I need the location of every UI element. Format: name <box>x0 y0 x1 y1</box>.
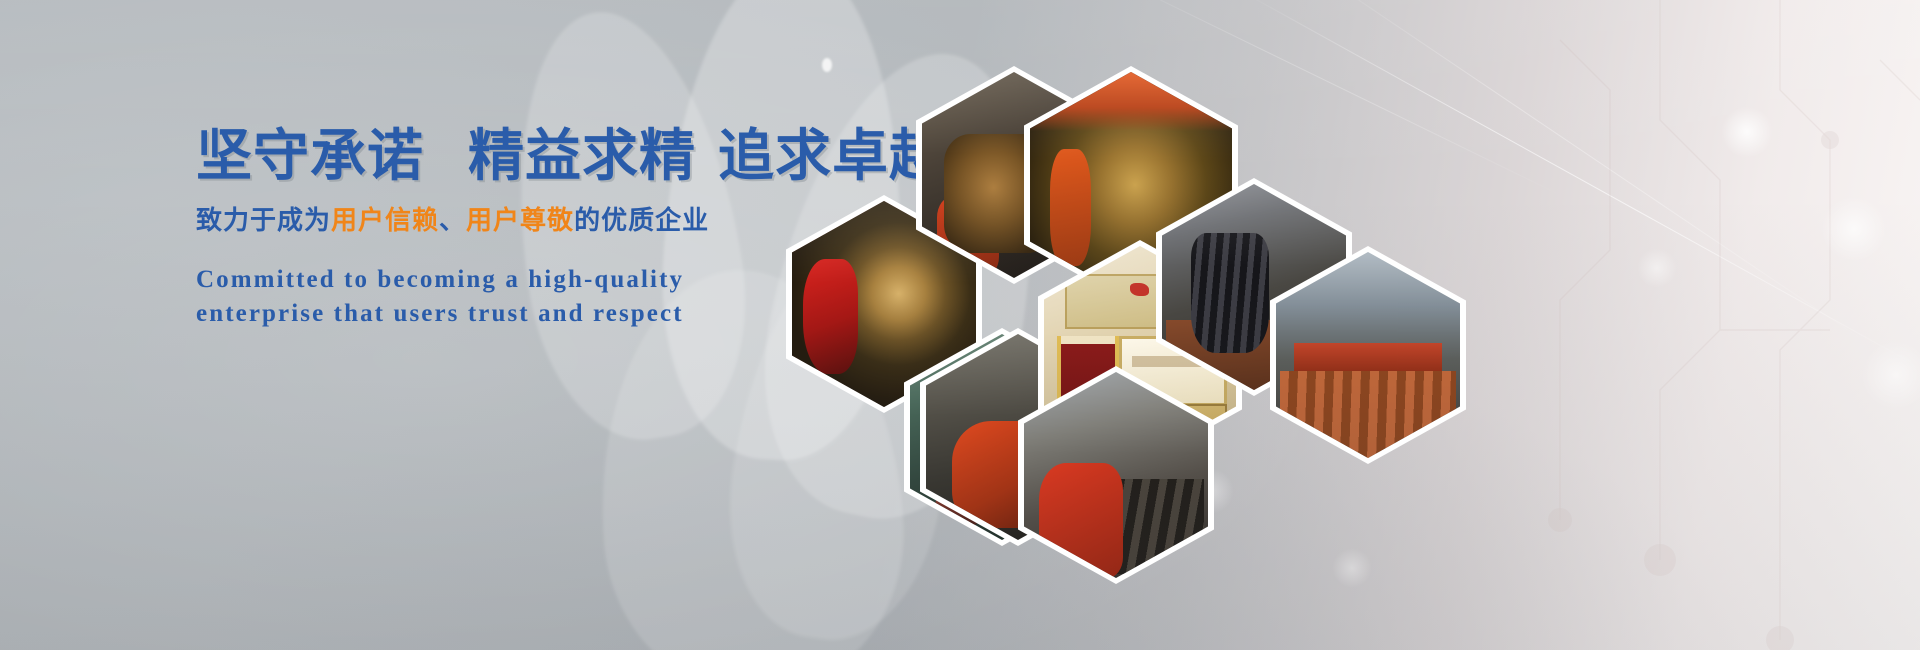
subline-suffix: 的优质企业 <box>574 205 709 235</box>
photo-shade-overlay <box>1024 372 1208 578</box>
headline-segment-2: 精益求精 <box>468 124 696 187</box>
photo-shade-overlay <box>1276 252 1460 458</box>
subline-highlight-respect: 用户尊敬 <box>466 205 574 235</box>
hex-photo-frame <box>1276 252 1460 458</box>
subline-prefix: 致力于成为 <box>196 205 331 235</box>
hex-photo-frame <box>1024 372 1208 578</box>
company-hero-banner: 坚守承诺精益求精追求卓越 致力于成为用户信赖、用户尊敬的优质企业 Committ… <box>0 0 1920 650</box>
subline-separator: 、 <box>439 205 466 235</box>
hexagon-photo-collage <box>770 50 1450 510</box>
subline-highlight-trust: 用户信赖 <box>331 205 439 235</box>
headline-segment-1: 坚守承诺 <box>196 124 424 187</box>
